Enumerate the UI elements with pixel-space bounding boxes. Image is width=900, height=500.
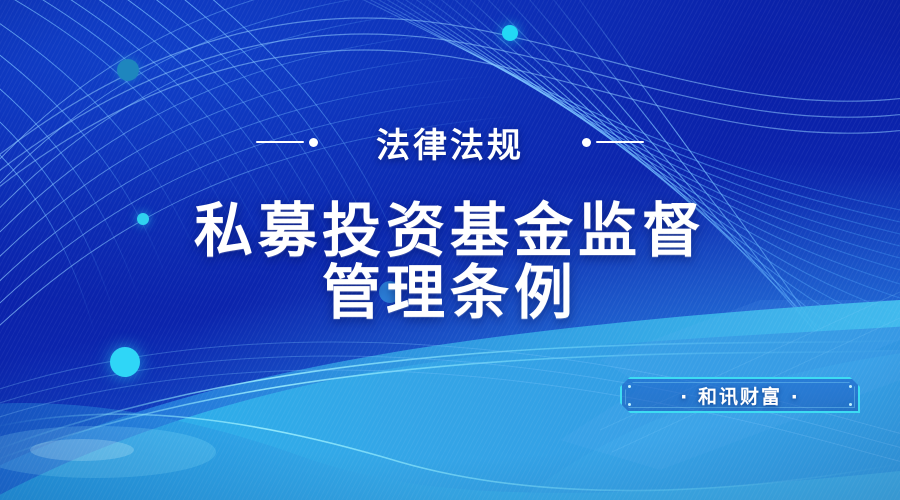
eyebrow-label: 法律法规 bbox=[376, 118, 524, 167]
line-dot-rule-right-icon bbox=[582, 138, 644, 147]
main-title: 私募投资基金监督 管理条例 bbox=[0, 200, 900, 324]
line-dot-rule-left-icon bbox=[256, 138, 318, 147]
eyebrow-row: 法律法规 bbox=[0, 115, 900, 169]
banner-graphic: 法律法规 私募投资基金监督 管理条例 · 和讯财富 · bbox=[0, 0, 900, 500]
brand-label: · 和讯财富 · bbox=[620, 377, 860, 413]
title-line-2: 管理条例 bbox=[0, 262, 900, 324]
brand-badge: · 和讯财富 · bbox=[620, 377, 860, 413]
title-line-1: 私募投资基金监督 bbox=[0, 200, 900, 262]
